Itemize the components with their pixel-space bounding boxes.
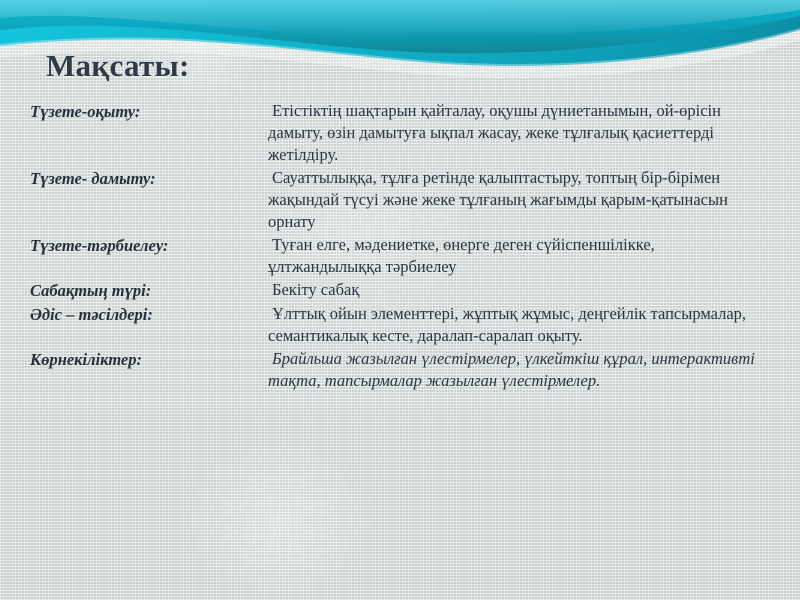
row-label: Әдіс – тәсілдері:	[30, 303, 268, 326]
row-value: Ұлттық ойын элементтері, жұптық жұмыс, д…	[268, 303, 772, 347]
row-label: Сабақтың түрі:	[30, 279, 268, 302]
row-label: Түзете- дамыту:	[30, 167, 268, 190]
watermark-shape-bottom	[180, 440, 380, 600]
row-label: Көрнекіліктер:	[30, 348, 268, 371]
page-title: Мақсаты:	[46, 48, 190, 84]
row-value: Сауаттылыққа, тұлға ретінде қалыптастыру…	[268, 167, 772, 233]
table-row: Көрнекіліктер: Брайльша жазылған үлестір…	[30, 348, 772, 392]
row-value: Бекіту сабақ	[268, 279, 772, 301]
table-row: Сабақтың түрі: Бекіту сабақ	[30, 279, 772, 302]
table-row: Әдіс – тәсілдері: Ұлттық ойын элементтер…	[30, 303, 772, 347]
row-value: Туған елге, мәдениетке, өнерге деген сүй…	[268, 234, 772, 278]
table-row: Түзете-тәрбиелеу: Туған елге, мәдениетке…	[30, 234, 772, 278]
table-row: Түзете- дамыту: Сауаттылыққа, тұлға реті…	[30, 167, 772, 233]
row-label: Түзете-оқыту:	[30, 100, 268, 123]
slide-canvas: Мақсаты: Түзете-оқыту: Етістіктің шақтар…	[0, 0, 800, 600]
row-label: Түзете-тәрбиелеу:	[30, 234, 268, 257]
table-row: Түзете-оқыту: Етістіктің шақтарын қайтал…	[30, 100, 772, 166]
objectives-table: Түзете-оқыту: Етістіктің шақтарын қайтал…	[30, 100, 772, 393]
row-value: Брайльша жазылған үлестірмелер, үлкейткі…	[268, 348, 772, 392]
row-value: Етістіктің шақтарын қайталау, оқушы дүни…	[268, 100, 772, 166]
